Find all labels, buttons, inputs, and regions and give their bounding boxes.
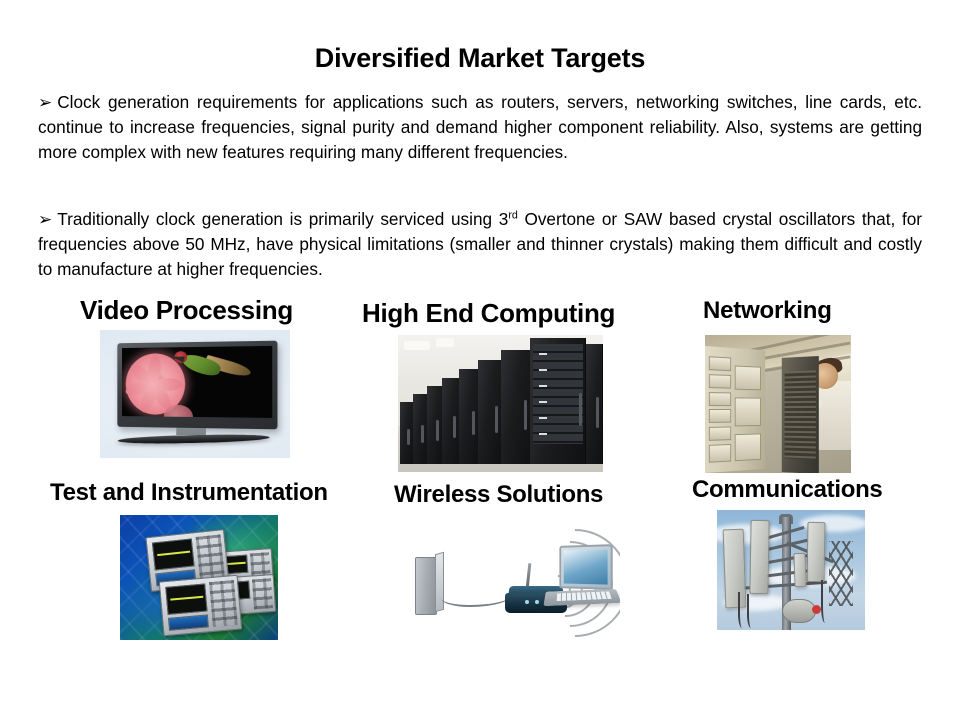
technician-telecom-rack-photo <box>705 335 851 473</box>
wireless-network-diagram <box>405 523 620 638</box>
server-rack <box>400 402 414 464</box>
waveform-trace <box>157 550 190 555</box>
drive-led <box>539 385 547 387</box>
panel-antenna <box>793 553 806 587</box>
tv-bezel <box>117 341 277 430</box>
rack-vent-grille <box>785 370 816 459</box>
feeder-cable <box>747 594 757 628</box>
panel-antenna <box>749 519 770 594</box>
drive-led <box>539 369 547 371</box>
ethernet-cable <box>441 585 513 607</box>
line-card <box>735 365 761 390</box>
bullet-paragraph-1-text: Clock generation requirements for applic… <box>38 92 922 162</box>
blade-server-rack <box>530 338 586 464</box>
bullet-paragraph-1: ➢Clock generation requirements for appli… <box>38 90 922 165</box>
blade-server-slots <box>533 344 583 444</box>
category-heading-wireless-solutions: Wireless Solutions <box>394 483 603 507</box>
scope-lower-panel <box>168 613 209 630</box>
scope-control-panel <box>252 578 273 609</box>
arrow-bullet-icon: ➢ <box>38 210 57 229</box>
line-card <box>709 427 731 441</box>
tv-screen <box>122 346 272 418</box>
bullet-paragraph-2-text-part1: Traditionally clock generation is primar… <box>57 209 508 229</box>
server-rack <box>478 360 502 464</box>
category-heading-test-and-instrumentation: Test and Instrumentation <box>50 481 328 505</box>
oscilloscope-unit <box>159 574 242 636</box>
arrow-bullet-icon: ➢ <box>38 93 57 112</box>
desktop-tower-side-panel <box>435 552 444 613</box>
drive-led <box>539 401 547 403</box>
router-status-led <box>525 600 529 604</box>
line-card <box>709 444 731 463</box>
line-card <box>709 392 731 406</box>
drive-led <box>539 353 547 355</box>
server-rack <box>459 369 479 464</box>
laptop-keyboard <box>557 591 612 601</box>
panel-antenna <box>807 522 826 582</box>
ordinal-superscript: rd <box>508 209 517 221</box>
slide-canvas: Diversified Market Targets ➢Clock genera… <box>0 0 960 720</box>
flat-panel-tv-photo <box>100 330 290 458</box>
category-heading-communications: Communications <box>692 478 882 502</box>
category-heading-high-end-computing: High End Computing <box>362 300 615 326</box>
laptop-screen <box>559 544 612 590</box>
line-card <box>709 374 731 388</box>
server-rack <box>501 350 531 464</box>
bullet-paragraph-2: ➢Traditionally clock generation is prima… <box>38 207 922 282</box>
drive-led <box>539 417 547 419</box>
drum-antenna <box>782 599 816 623</box>
page-title: Diversified Market Targets <box>0 44 960 74</box>
line-card <box>709 410 731 424</box>
line-card <box>735 397 761 426</box>
router-status-led <box>535 600 539 604</box>
scope-control-panel <box>196 534 225 581</box>
server-rack <box>442 378 460 464</box>
scope-control-panel <box>209 580 237 626</box>
cell-tower-photo <box>717 510 865 630</box>
category-heading-networking: Networking <box>703 299 832 323</box>
server-rack <box>427 386 443 464</box>
server-rack <box>586 344 603 464</box>
line-card <box>709 356 731 371</box>
waveform-trace <box>170 595 204 600</box>
secondary-flower <box>164 405 193 418</box>
scope-display <box>153 538 196 570</box>
lattice-antenna-structure <box>829 541 853 606</box>
drive-led <box>539 433 547 435</box>
beige-equipment-rack <box>705 346 765 473</box>
scope-display <box>166 583 208 614</box>
server-rack <box>413 394 428 464</box>
category-heading-video-processing: Video Processing <box>80 297 293 323</box>
rack-vertical-rail <box>763 342 786 473</box>
server-racks-photo <box>398 335 603 472</box>
ceiling-light <box>436 338 454 347</box>
ceiling-light <box>404 341 430 350</box>
dark-equipment-rack <box>782 356 819 473</box>
feeder-cable <box>821 580 831 623</box>
desktop-tower-icon <box>415 557 437 615</box>
oscilloscopes-photo <box>120 515 278 640</box>
line-card <box>735 433 761 461</box>
